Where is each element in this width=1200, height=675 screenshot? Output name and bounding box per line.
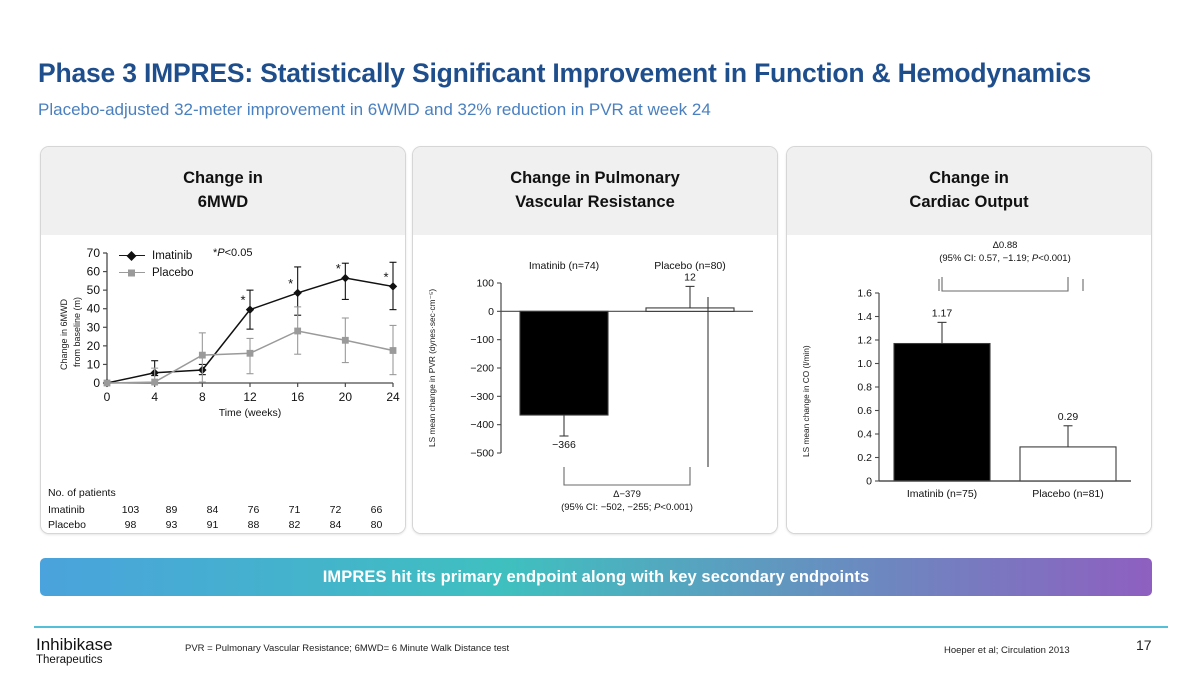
bar-value-label: 1.17 xyxy=(932,307,953,319)
row-label: Placebo xyxy=(48,518,110,533)
panel-header-6mwd: Change in 6MWD xyxy=(41,147,405,235)
bar-category-label: Imatinib (n=74) xyxy=(529,260,599,272)
y-axis-tick-label: −200 xyxy=(470,363,494,375)
bar-category-label: Imatinib (n=75) xyxy=(907,488,977,500)
page-number: 17 xyxy=(1136,637,1152,653)
citation: Hoeper et al; Circulation 2013 xyxy=(944,645,1070,656)
y-axis-tick-label: 30 xyxy=(87,320,101,334)
bar-value-label: −366 xyxy=(552,439,576,451)
cell: 82 xyxy=(274,518,315,533)
square-marker-icon xyxy=(199,352,206,359)
square-marker-icon xyxy=(151,379,158,386)
panel-header-co: Change in Cardiac Output xyxy=(787,147,1151,235)
cell: 71 xyxy=(274,503,315,518)
cell: 84 xyxy=(192,503,233,518)
slide: Phase 3 IMPRES: Statistically Significan… xyxy=(0,0,1200,675)
company-logo: Inhibikase Therapeutics xyxy=(36,636,113,667)
chart-panel-co: Change in Cardiac Output LS mean change … xyxy=(786,146,1152,534)
y-axis-tick-label: −400 xyxy=(470,419,494,431)
table-row: Placebo 98 93 91 88 82 84 80 xyxy=(48,518,397,533)
key-message-banner: IMPRES hit its primary endpoint along wi… xyxy=(40,558,1152,596)
bar-imatinib xyxy=(894,344,990,481)
panel-body-6mwd: Change in 6MWD from baseline (m) Imatini… xyxy=(41,235,405,534)
cell: 91 xyxy=(192,518,233,533)
logo-line1: Inhibikase xyxy=(36,636,113,654)
cell: 76 xyxy=(233,503,274,518)
panel-title-line2: 6MWD xyxy=(198,193,248,211)
x-axis-tick-label: 16 xyxy=(291,390,305,404)
table-row: Imatinib 103 89 84 76 71 72 66 xyxy=(48,503,397,518)
panel-title-line1: Change in xyxy=(183,169,263,187)
significance-star: * xyxy=(288,276,293,291)
panel-body-pvr: LS mean change in PVR (dynes·sec·cm⁻⁵) 1… xyxy=(413,235,777,534)
x-axis-tick-label: 12 xyxy=(243,390,257,404)
row-label: Imatinib xyxy=(48,503,110,518)
y-axis-tick-label: 1.2 xyxy=(857,335,872,347)
cell: 89 xyxy=(151,503,192,518)
cell: 88 xyxy=(233,518,274,533)
delta-annotation-pvr: Δ−379 (95% CI: −502, −255; P<0.001) xyxy=(491,488,763,515)
delta-value: Δ0.88 xyxy=(993,240,1018,251)
y-axis-tick-label: 1.4 xyxy=(857,311,872,323)
cell: 98 xyxy=(110,518,151,533)
significance-star: * xyxy=(336,261,341,276)
footer-divider xyxy=(34,626,1168,628)
y-axis-tick-label: 0.6 xyxy=(857,405,872,417)
bar-placebo xyxy=(646,308,734,311)
counts-heading: No. of patients xyxy=(48,486,397,501)
y-axis-tick-label: 100 xyxy=(476,278,494,290)
footnote: PVR = Pulmonary Vascular Resistance; 6MW… xyxy=(185,643,509,654)
square-marker-icon xyxy=(390,347,397,354)
cell: 80 xyxy=(356,518,397,533)
significance-star: * xyxy=(240,293,245,308)
chart-panel-6mwd: Change in 6MWD Change in 6MWD from basel… xyxy=(40,146,406,534)
x-axis-label: Time (weeks) xyxy=(190,407,310,419)
panel-title-line2: Vascular Resistance xyxy=(515,193,675,211)
x-axis-tick-label: 20 xyxy=(339,390,353,404)
page-title: Phase 3 IMPRES: Statistically Significan… xyxy=(38,58,1091,89)
diamond-marker-icon xyxy=(389,282,397,290)
patient-counts-table: No. of patients Imatinib 103 89 84 76 71… xyxy=(48,486,397,533)
panel-body-co: LS mean change in CO (l/min) 1.61.41.21.… xyxy=(787,235,1151,534)
x-axis-tick-label: 8 xyxy=(199,390,206,404)
delta-annotation-co: Δ0.88 (95% CI: 0.57, −1.19; P<0.001) xyxy=(867,239,1143,266)
y-axis-tick-label: 1.0 xyxy=(857,358,872,370)
square-marker-icon xyxy=(104,380,111,387)
panel-header-pvr: Change in Pulmonary Vascular Resistance xyxy=(413,147,777,235)
y-axis-tick-label: 0.4 xyxy=(857,429,872,441)
panel-title-line1: Change in Pulmonary xyxy=(510,169,680,187)
delta-value: Δ−379 xyxy=(613,489,641,500)
line-chart-6mwd: Change in 6MWD from baseline (m) Imatini… xyxy=(41,235,405,534)
y-axis-tick-label: 20 xyxy=(87,339,101,353)
bar-value-label: 12 xyxy=(684,271,696,283)
y-axis-tick-label: 1.6 xyxy=(857,288,872,300)
y-axis-tick-label: −500 xyxy=(470,448,494,460)
chart-panel-pvr: Change in Pulmonary Vascular Resistance … xyxy=(412,146,778,534)
bar-placebo xyxy=(1020,447,1116,481)
cell: 93 xyxy=(151,518,192,533)
bar-category-label: Placebo (n=81) xyxy=(1032,488,1104,500)
square-marker-icon xyxy=(294,328,301,335)
y-axis-tick-label: 0.8 xyxy=(857,382,872,394)
delta-bracket-tails xyxy=(939,279,1083,291)
cell: 66 xyxy=(356,503,397,518)
y-axis-tick-label: 0 xyxy=(93,376,100,390)
y-axis-tick-label: 50 xyxy=(87,283,101,297)
y-axis-tick-label: 40 xyxy=(87,302,101,316)
cell: 72 xyxy=(315,503,356,518)
square-marker-icon xyxy=(342,337,349,344)
delta-bracket xyxy=(942,277,1068,291)
x-axis-tick-label: 24 xyxy=(386,390,400,404)
diamond-marker-icon xyxy=(293,289,301,297)
panel-title-line2: Cardiac Output xyxy=(909,193,1028,211)
bar-category-label: Placebo (n=80) xyxy=(654,260,726,272)
y-axis-tick-label: 70 xyxy=(87,246,101,260)
y-axis-tick-label: 0 xyxy=(488,306,494,318)
bar-value-label: 0.29 xyxy=(1058,411,1079,423)
y-axis-tick-label: 60 xyxy=(87,265,101,279)
x-axis-tick-label: 4 xyxy=(151,390,158,404)
banner-text: IMPRES hit its primary endpoint along wi… xyxy=(323,568,870,587)
cell: 84 xyxy=(315,518,356,533)
bar-chart-plot-co: 1.61.41.21.00.80.60.40.201.17Imatinib (n… xyxy=(787,235,1152,534)
y-axis-tick-label: −100 xyxy=(470,334,494,346)
bar-imatinib xyxy=(520,311,608,415)
page-subtitle: Placebo-adjusted 32-meter improvement in… xyxy=(38,100,711,120)
significance-star: * xyxy=(383,269,388,284)
y-axis-tick-label: 0 xyxy=(866,476,872,488)
y-axis-tick-label: −300 xyxy=(470,391,494,403)
delta-bracket xyxy=(564,467,690,485)
y-axis-tick-label: 10 xyxy=(87,357,101,371)
square-marker-icon xyxy=(247,350,254,357)
panel-title-line1: Change in xyxy=(929,169,1009,187)
logo-line2: Therapeutics xyxy=(36,654,113,666)
cell: 103 xyxy=(110,503,151,518)
x-axis-tick-label: 0 xyxy=(104,390,111,404)
diamond-marker-icon xyxy=(341,274,349,282)
y-axis-tick-label: 0.2 xyxy=(857,452,872,464)
